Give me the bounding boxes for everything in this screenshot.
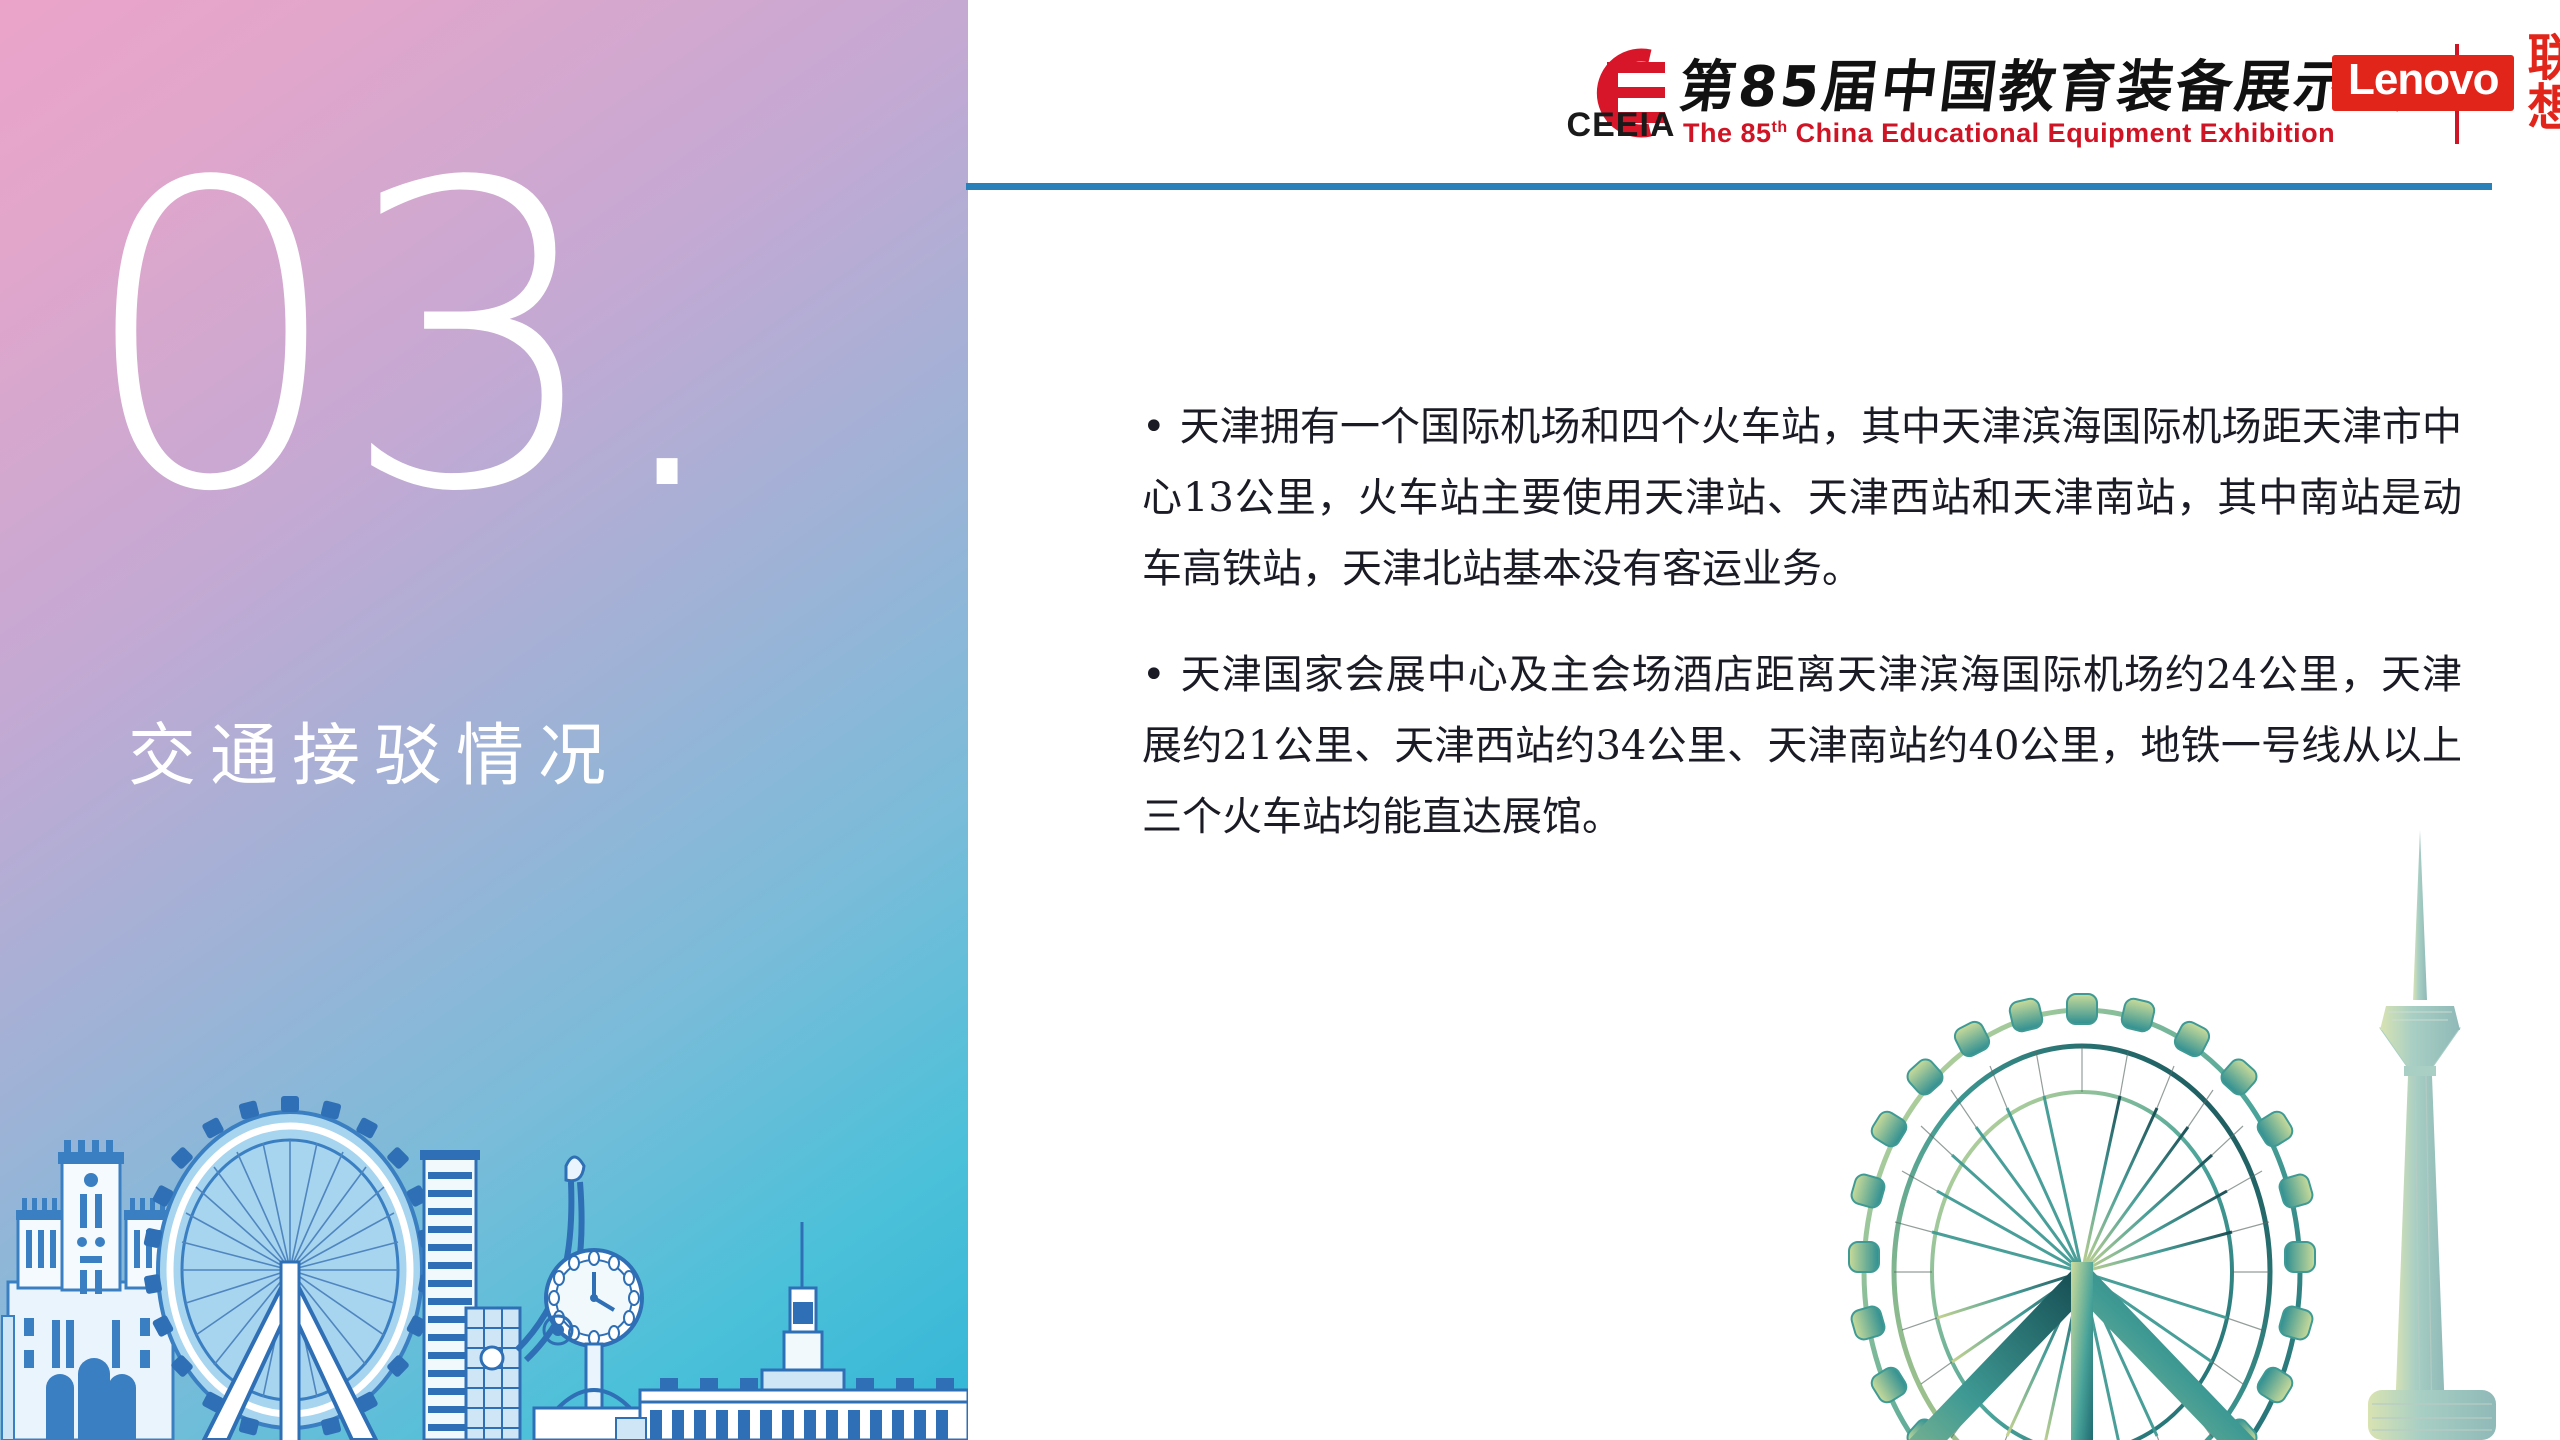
left-title-panel: 03. 交通接驳情况 [0,0,968,1440]
bullet-glyph: • [1142,652,1180,698]
section-number: 03. [78,130,728,550]
paragraph-2-text: 天津国家会展中心及主会场酒店距离天津滨海国际机场约24公里，天津展约21公里、天… [1142,652,2462,840]
english-title-prefix: The 85 [1683,118,1772,148]
header-rule [966,183,2492,190]
lenovo-chinese-wordmark: 联想 [2527,33,2560,133]
tianjin-eye-and-tower-illustration [1820,820,2560,1440]
exhibition-chinese-title: 第85届中国教育装备展示会 [1675,42,2418,123]
bullet-paragraph-1: •天津拥有一个国际机场和四个火车站，其中天津滨海国际机场距天津市中心13公里，火… [1142,392,2462,606]
presentation-slide: 03. 交通接驳情况 [0,0,2560,1440]
paragraph-1-text: 天津拥有一个国际机场和四个火车站，其中天津滨海国际机场距天津市中心13公里，火车… [1142,404,2462,592]
english-title-rest: China Educational Equipment Exhibition [1788,118,2336,148]
section-subtitle: 交通接驳情况 [128,700,620,799]
content-body: •天津拥有一个国际机场和四个火车站，其中天津滨海国际机场距天津市中心13公里，火… [1142,392,2462,887]
ferris-wheel-graphic [1832,994,2332,1440]
ceeia-wordmark: CEEIA [1555,106,1687,145]
grid-office-block [466,1308,520,1440]
lenovo-sponsor-logo: Lenovo 联想 [2332,46,2560,120]
tianjin-tv-tower-graphic [2368,830,2496,1440]
ferris-wheel-tianjin-eye [143,1096,436,1440]
tianjin-skyline-illustration [0,1070,968,1440]
lenovo-wordmark: Lenovo [2332,55,2514,110]
municipal-building [616,1222,968,1440]
english-title-superscript: th [1772,119,1788,136]
bullet-glyph: • [1142,404,1180,450]
century-clock-monument [517,1157,644,1440]
exhibition-english-title: The 85th China Educational Equipment Exh… [1683,118,2335,149]
